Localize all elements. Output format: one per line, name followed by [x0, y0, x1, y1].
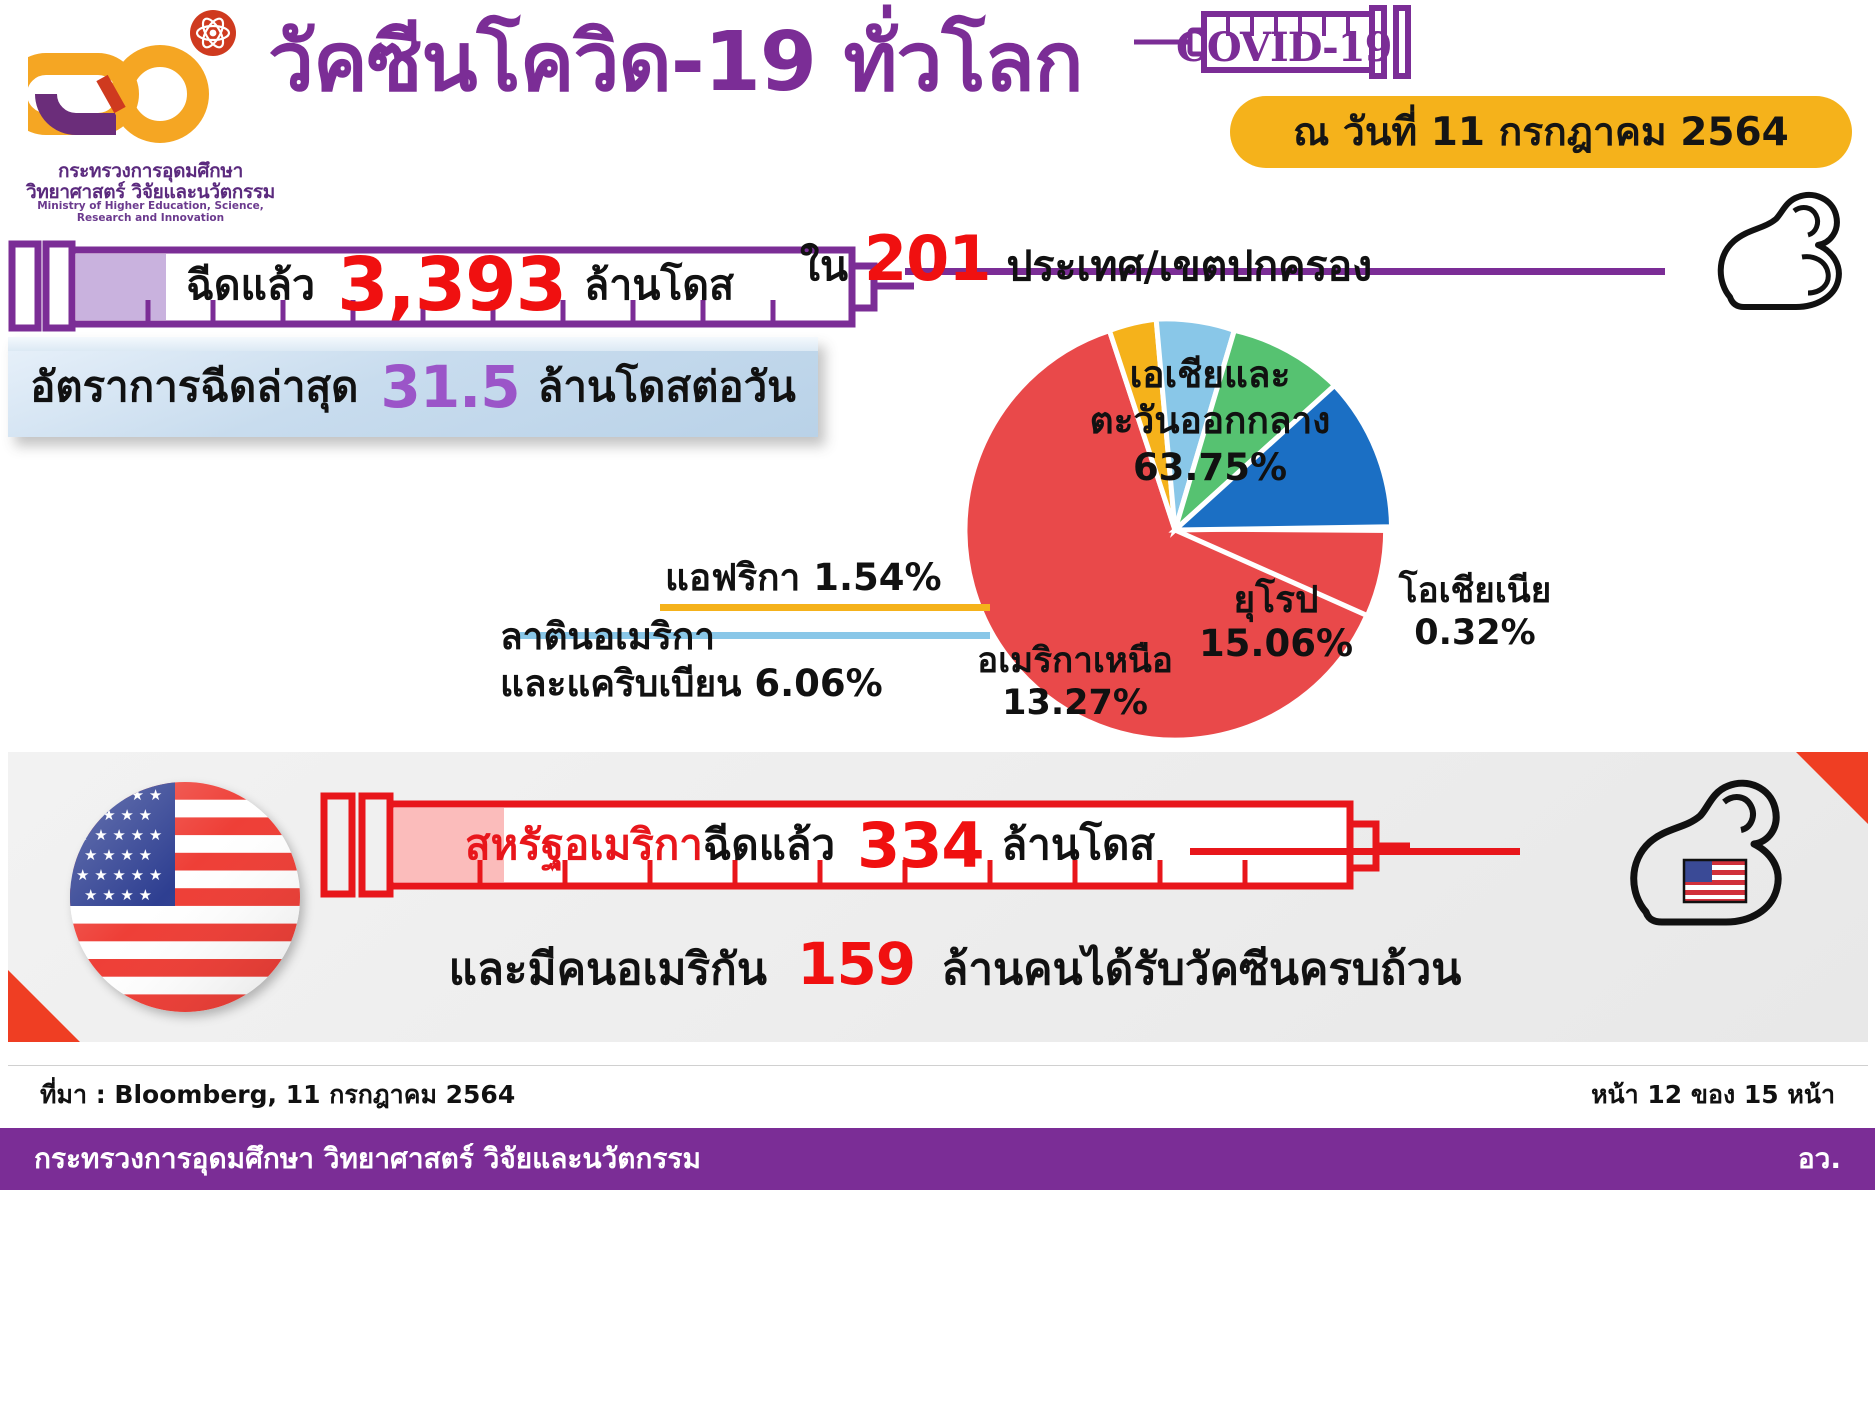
usa-flag-icon: ★ ★ ★ ★ ★ ★ ★ ★ ★ ★ ★ ★ ★ ★ ★ ★ ★ ★ ★ ★ … [70, 782, 300, 1012]
date-badge: ณ วันที่ 11 กรกฎาคม 2564 [1230, 96, 1852, 168]
usa-doses-text: สหรัฐอเมริกา ฉีดแล้ว 334 ล้านโดส [400, 795, 1220, 895]
atom-icon [190, 10, 236, 56]
flexed-arm-usa-icon [1600, 772, 1800, 932]
usa-doses-value: 334 [857, 809, 983, 882]
source-text: ที่มา : Bloomberg, 11 กรกฎาคม 2564 [40, 1075, 515, 1115]
rate-value: 31.5 [380, 353, 519, 421]
footer-divider [8, 1065, 1868, 1066]
global-doses-value: 3,393 [337, 242, 566, 328]
usa-sub-prefix: และมีคนอเมริกัน [449, 944, 767, 995]
covid-syringe-label: COVID-19 [1176, 24, 1391, 71]
usa-fully-vaccinated-text: และมีคนอเมริกัน 159 ล้านคนได้รับวัคซีนคร… [380, 930, 1530, 1004]
global-doses-text: ฉีดแล้ว 3,393 ล้านโดส [150, 242, 770, 328]
corner-accent-top-right [1796, 752, 1868, 824]
usa-doses-prefix: ฉีดแล้ว [703, 812, 835, 878]
countries-prefix: ใน [800, 234, 848, 299]
pie-label-north-america: อเมริกาเหนือ 13.27% [960, 640, 1190, 724]
pie-label-europe: ยุโรป 15.06% [1196, 578, 1356, 665]
global-doses-suffix: ล้านโดส [584, 253, 734, 318]
pie-label-africa: แอฟริกา 1.54% [665, 548, 942, 607]
countries-count-text: ใน 201 ประเทศ/เขตปกครอง [800, 222, 1372, 299]
page-title: วัคซีนโควิด-19 ทั่วโลก [268, 22, 1083, 104]
pie-label-asia: เอเชียและ ตะวันออกกลาง 63.75% [1075, 352, 1345, 491]
page-number-text: หน้า 12 ของ 15 หน้า [1591, 1075, 1835, 1115]
rate-prefix: อัตราการฉีดล่าสุด [30, 354, 358, 420]
usa-country-label: สหรัฐอเมริกา [465, 812, 703, 878]
usa-sub-suffix: ล้านคนได้รับวัคซีนครบถ้วน [941, 944, 1461, 995]
pie-label-latam: ลาตินอเมริกา และแคริบเบียน 6.06% [500, 613, 900, 708]
logo-subtitle-english: Ministry of Higher Education, Science, R… [18, 200, 283, 224]
rate-suffix: ล้านโดสต่อวัน [538, 354, 796, 420]
usa-doses-suffix: ล้านโดส [1002, 812, 1156, 878]
global-doses-prefix: ฉีดแล้ว [186, 253, 315, 318]
footer-ministry-name: กระทรวงการอุดมศึกษา วิทยาศาสตร์ วิจัยและ… [34, 1137, 701, 1181]
red-connector-line [1190, 848, 1520, 855]
footer-bar: กระทรวงการอุดมศึกษา วิทยาศาสตร์ วิจัยและ… [0, 1128, 1875, 1190]
flexed-arm-icon [1690, 185, 1865, 315]
usa-sub-value: 159 [797, 930, 915, 998]
footer-abbr: อว. [1798, 1137, 1841, 1181]
countries-value: 201 [864, 222, 990, 295]
ministry-logo: กระทรวงการอุดมศึกษา วิทยาศาสตร์ วิจัยและ… [18, 8, 283, 208]
corner-accent-bottom-left [8, 970, 80, 1042]
infographic-page: กระทรวงการอุดมศึกษา วิทยาศาสตร์ วิจัยและ… [0, 0, 1875, 1407]
pie-label-oceania: โอเชียเนีย 0.32% [1380, 570, 1570, 654]
countries-suffix: ประเทศ/เขตปกครอง [1006, 234, 1372, 299]
daily-rate-text: อัตราการฉีดล่าสุด 31.5 ล้านโดสต่อวัน [8, 337, 818, 437]
